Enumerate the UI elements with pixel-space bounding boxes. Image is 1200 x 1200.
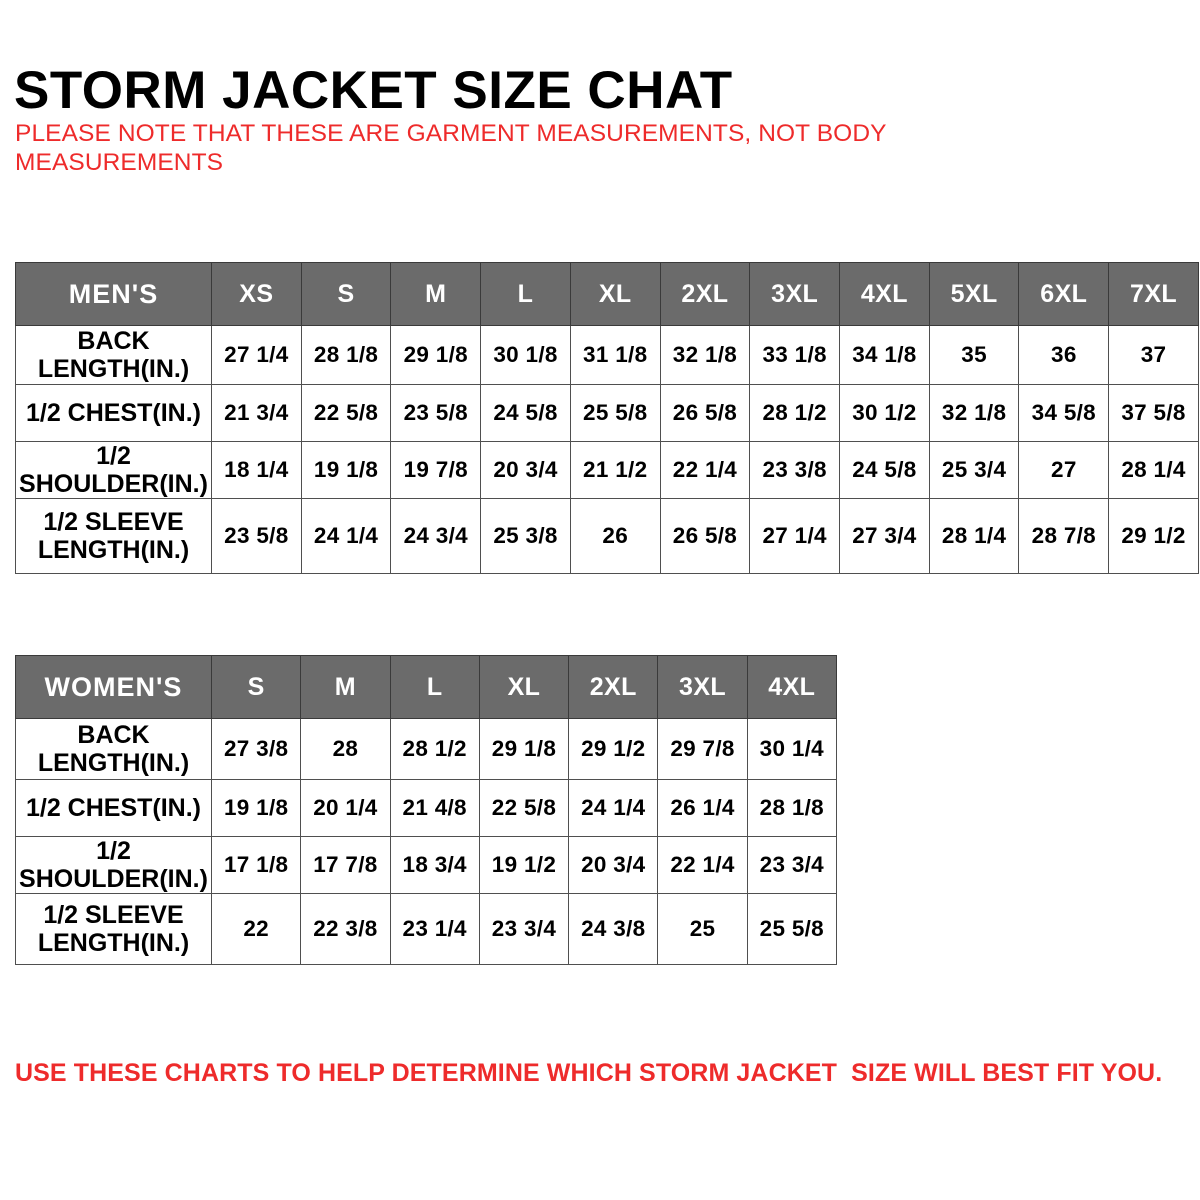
womens-size-table: WOMEN'SSMLXL2XL3XL4XL BACKLENGTH(IN.)27 … xyxy=(15,655,837,965)
measurement-cell: 20 3/4 xyxy=(569,837,658,894)
size-column-header-xl: XL xyxy=(479,656,568,719)
table-header-row: WOMEN'SSMLXL2XL3XL4XL xyxy=(16,656,837,719)
measurement-cell: 28 1/4 xyxy=(1109,442,1199,499)
measurement-cell: 27 3/4 xyxy=(840,499,930,574)
measurement-cell: 21 4/8 xyxy=(390,780,479,837)
measurement-cell: 19 1/8 xyxy=(301,442,391,499)
size-column-header-3xl: 3XL xyxy=(658,656,747,719)
womens-table-body: BACKLENGTH(IN.)27 3/82828 1/229 1/829 1/… xyxy=(16,719,837,965)
measurement-cell: 23 5/8 xyxy=(212,499,302,574)
size-column-header-s: S xyxy=(212,656,301,719)
measurement-cell: 22 1/4 xyxy=(658,837,747,894)
measurement-cell: 24 1/4 xyxy=(301,499,391,574)
measurement-label-1-2-chest-in: 1/2 CHEST(IN.) xyxy=(16,385,212,442)
measurement-cell: 26 5/8 xyxy=(660,499,750,574)
measurement-cell: 32 1/8 xyxy=(660,326,750,385)
size-column-header-l: L xyxy=(481,263,571,326)
measurement-cell: 26 1/4 xyxy=(658,780,747,837)
size-column-header-2xl: 2XL xyxy=(569,656,658,719)
measurement-cell: 27 3/8 xyxy=(212,719,301,780)
size-column-header-m: M xyxy=(301,656,390,719)
size-chart-page: STORM JACKET SIZE CHAT PLEASE NOTE THAT … xyxy=(0,0,1200,1200)
table-row: 1/2 SLEEVELENGTH(IN.)2222 3/823 1/423 3/… xyxy=(16,894,837,965)
measurement-cell: 23 5/8 xyxy=(391,385,481,442)
table-row: BACKLENGTH(IN.)27 1/428 1/829 1/830 1/83… xyxy=(16,326,1199,385)
table-corner-label: WOMEN'S xyxy=(16,656,212,719)
measurement-cell: 19 7/8 xyxy=(391,442,481,499)
measurement-label-1-2-shoulder-in: 1/2 SHOULDER(IN.) xyxy=(16,442,212,499)
table-row: 1/2 SLEEVELENGTH(IN.)23 5/824 1/424 3/42… xyxy=(16,499,1199,574)
measurement-cell: 34 1/8 xyxy=(840,326,930,385)
table-corner-label: MEN'S xyxy=(16,263,212,326)
size-column-header-6xl: 6XL xyxy=(1019,263,1109,326)
measurement-cell: 30 1/4 xyxy=(747,719,836,780)
size-column-header-xl: XL xyxy=(570,263,660,326)
measurement-cell: 25 5/8 xyxy=(570,385,660,442)
measurement-cell: 24 3/8 xyxy=(569,894,658,965)
measurement-cell: 24 5/8 xyxy=(840,442,930,499)
mens-table-body: BACKLENGTH(IN.)27 1/428 1/829 1/830 1/83… xyxy=(16,326,1199,574)
measurement-cell: 25 5/8 xyxy=(747,894,836,965)
measurement-cell: 19 1/2 xyxy=(479,837,568,894)
measurement-cell: 21 3/4 xyxy=(212,385,302,442)
page-title: STORM JACKET SIZE CHAT xyxy=(14,60,733,122)
measurement-cell: 26 xyxy=(570,499,660,574)
measurement-cell: 17 7/8 xyxy=(301,837,390,894)
measurement-cell: 22 5/8 xyxy=(479,780,568,837)
measurement-cell: 18 1/4 xyxy=(212,442,302,499)
table-row: 1/2 CHEST(IN.)19 1/820 1/421 4/822 5/824… xyxy=(16,780,837,837)
size-column-header-3xl: 3XL xyxy=(750,263,840,326)
measurement-cell: 25 3/4 xyxy=(929,442,1019,499)
measurement-cell: 22 1/4 xyxy=(660,442,750,499)
mens-table-header: MEN'SXSSMLXL2XL3XL4XL5XL6XL7XL xyxy=(16,263,1199,326)
measurement-cell: 24 3/4 xyxy=(391,499,481,574)
measurement-cell: 25 xyxy=(658,894,747,965)
measurement-cell: 27 1/4 xyxy=(212,326,302,385)
measurement-cell: 29 1/2 xyxy=(569,719,658,780)
measurement-label-1-2-shoulder-in: 1/2 SHOULDER(IN.) xyxy=(16,837,212,894)
mens-size-table: MEN'SXSSMLXL2XL3XL4XL5XL6XL7XL BACKLENGT… xyxy=(15,262,1199,574)
measurement-cell: 28 1/4 xyxy=(929,499,1019,574)
size-column-header-2xl: 2XL xyxy=(660,263,750,326)
measurement-cell: 30 1/8 xyxy=(481,326,571,385)
measurement-cell: 23 3/8 xyxy=(750,442,840,499)
measurement-label-back-length-in: BACKLENGTH(IN.) xyxy=(16,326,212,385)
table-row: 1/2 CHEST(IN.)21 3/422 5/823 5/824 5/825… xyxy=(16,385,1199,442)
size-column-header-5xl: 5XL xyxy=(929,263,1019,326)
measurement-cell: 32 1/8 xyxy=(929,385,1019,442)
garment-measurement-note: PLEASE NOTE THAT THESE ARE GARMENT MEASU… xyxy=(15,119,975,177)
measurement-cell: 18 3/4 xyxy=(390,837,479,894)
measurement-cell: 29 1/8 xyxy=(479,719,568,780)
measurement-cell: 30 1/2 xyxy=(840,385,930,442)
measurement-cell: 21 1/2 xyxy=(570,442,660,499)
size-column-header-7xl: 7XL xyxy=(1109,263,1199,326)
measurement-cell: 28 1/8 xyxy=(747,780,836,837)
size-column-header-m: M xyxy=(391,263,481,326)
measurement-cell: 22 3/8 xyxy=(301,894,390,965)
measurement-cell: 28 xyxy=(301,719,390,780)
measurement-cell: 20 1/4 xyxy=(301,780,390,837)
measurement-cell: 29 7/8 xyxy=(658,719,747,780)
measurement-cell: 25 3/8 xyxy=(481,499,571,574)
measurement-cell: 37 xyxy=(1109,326,1199,385)
table-row: 1/2 SHOULDER(IN.)18 1/419 1/819 7/820 3/… xyxy=(16,442,1199,499)
table-row: BACKLENGTH(IN.)27 3/82828 1/229 1/829 1/… xyxy=(16,719,837,780)
measurement-cell: 28 7/8 xyxy=(1019,499,1109,574)
size-column-header-4xl: 4XL xyxy=(747,656,836,719)
measurement-cell: 36 xyxy=(1019,326,1109,385)
measurement-label-1-2-sleeve-length-in: 1/2 SLEEVELENGTH(IN.) xyxy=(16,894,212,965)
measurement-cell: 24 5/8 xyxy=(481,385,571,442)
measurement-cell: 27 1/4 xyxy=(750,499,840,574)
measurement-cell: 28 1/2 xyxy=(750,385,840,442)
measurement-cell: 17 1/8 xyxy=(212,837,301,894)
measurement-cell: 23 3/4 xyxy=(479,894,568,965)
footer-help-note: USE THESE CHARTS TO HELP DETERMINE WHICH… xyxy=(15,1058,1162,1088)
size-column-header-l: L xyxy=(390,656,479,719)
measurement-cell: 23 3/4 xyxy=(747,837,836,894)
measurement-cell: 19 1/8 xyxy=(212,780,301,837)
measurement-cell: 33 1/8 xyxy=(750,326,840,385)
measurement-cell: 24 1/4 xyxy=(569,780,658,837)
measurement-cell: 22 5/8 xyxy=(301,385,391,442)
size-column-header-xs: XS xyxy=(212,263,302,326)
measurement-cell: 28 1/8 xyxy=(301,326,391,385)
measurement-cell: 29 1/8 xyxy=(391,326,481,385)
measurement-cell: 31 1/8 xyxy=(570,326,660,385)
measurement-cell: 34 5/8 xyxy=(1019,385,1109,442)
measurement-label-1-2-sleeve-length-in: 1/2 SLEEVELENGTH(IN.) xyxy=(16,499,212,574)
measurement-cell: 29 1/2 xyxy=(1109,499,1199,574)
measurement-cell: 27 xyxy=(1019,442,1109,499)
measurement-cell: 28 1/2 xyxy=(390,719,479,780)
measurement-cell: 22 xyxy=(212,894,301,965)
measurement-label-back-length-in: BACKLENGTH(IN.) xyxy=(16,719,212,780)
size-column-header-4xl: 4XL xyxy=(840,263,930,326)
size-column-header-s: S xyxy=(301,263,391,326)
womens-table-header: WOMEN'SSMLXL2XL3XL4XL xyxy=(16,656,837,719)
measurement-cell: 37 5/8 xyxy=(1109,385,1199,442)
table-row: 1/2 SHOULDER(IN.)17 1/817 7/818 3/419 1/… xyxy=(16,837,837,894)
measurement-cell: 35 xyxy=(929,326,1019,385)
measurement-cell: 23 1/4 xyxy=(390,894,479,965)
measurement-label-1-2-chest-in: 1/2 CHEST(IN.) xyxy=(16,780,212,837)
measurement-cell: 20 3/4 xyxy=(481,442,571,499)
measurement-cell: 26 5/8 xyxy=(660,385,750,442)
table-header-row: MEN'SXSSMLXL2XL3XL4XL5XL6XL7XL xyxy=(16,263,1199,326)
